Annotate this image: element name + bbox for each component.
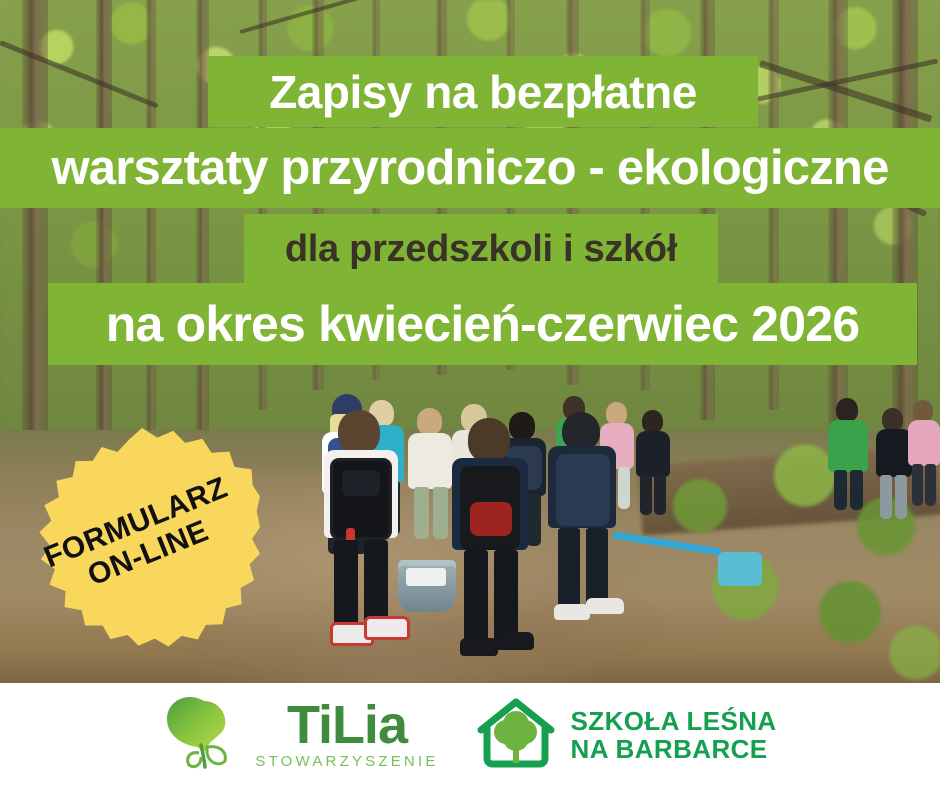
poster: Zapisy na bezpłatne warsztaty przyrodnic… (0, 0, 940, 788)
subhead-band: dla przedszkoli i szkół (244, 214, 718, 284)
logo-szkola-lesna[interactable]: SZKOŁA LEŚNA NA BARBARCE (473, 694, 777, 777)
szkola-line2: NA BARBARCE (571, 736, 777, 763)
szkola-line1: SZKOŁA LEŚNA (571, 708, 777, 735)
headline-line2: warsztaty przyrodniczo - ekologiczne (51, 144, 888, 193)
headline-band-1: Zapisy na bezpłatne (208, 56, 758, 127)
tilia-name: TiLia (287, 701, 407, 751)
logo-tilia[interactable]: TiLia STOWARZYSZENIE (163, 695, 438, 776)
tilia-subtitle: STOWARZYSZENIE (255, 753, 438, 770)
subhead-text: dla przedszkoli i szkół (285, 230, 677, 268)
period-band: na okres kwiecień-czerwiec 2026 (48, 283, 917, 365)
headline-band-2: warsztaty przyrodniczo - ekologiczne (0, 128, 940, 208)
house-with-tree-icon (473, 694, 559, 777)
headline-line1: Zapisy na bezpłatne (269, 69, 697, 115)
period-text: na okres kwiecień-czerwiec 2026 (106, 299, 859, 349)
footer-logos: TiLia STOWARZYSZENIE SZKOŁA LEŚNA NA BAR… (0, 683, 940, 788)
linden-leaf-icon (163, 695, 249, 776)
formularz-online-badge[interactable]: FORMULARZ ON-LINE (24, 428, 260, 647)
tilia-wordmark: TiLia STOWARZYSZENIE (255, 701, 438, 770)
szkola-wordmark: SZKOŁA LEŚNA NA BARBARCE (571, 708, 777, 763)
